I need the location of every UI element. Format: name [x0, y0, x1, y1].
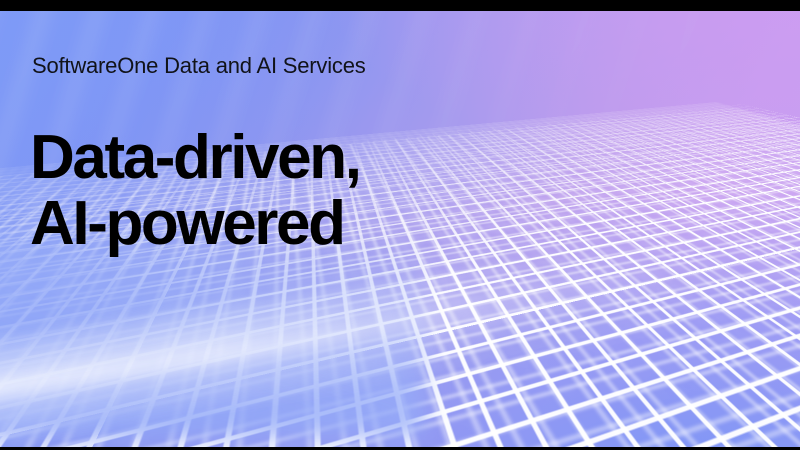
presentation-slide: SoftwareOne Data and AI Services Data-dr…	[0, 0, 800, 450]
headline-line-2: AI-powered	[30, 191, 360, 257]
slide-eyebrow-text: SoftwareOne Data and AI Services	[32, 53, 366, 79]
letterbox-bar-top	[0, 0, 800, 11]
slide-text-layer: SoftwareOne Data and AI Services Data-dr…	[0, 0, 800, 450]
headline-line-1: Data-driven,	[30, 125, 360, 191]
slide-headline: Data-driven, AI-powered	[30, 125, 360, 256]
